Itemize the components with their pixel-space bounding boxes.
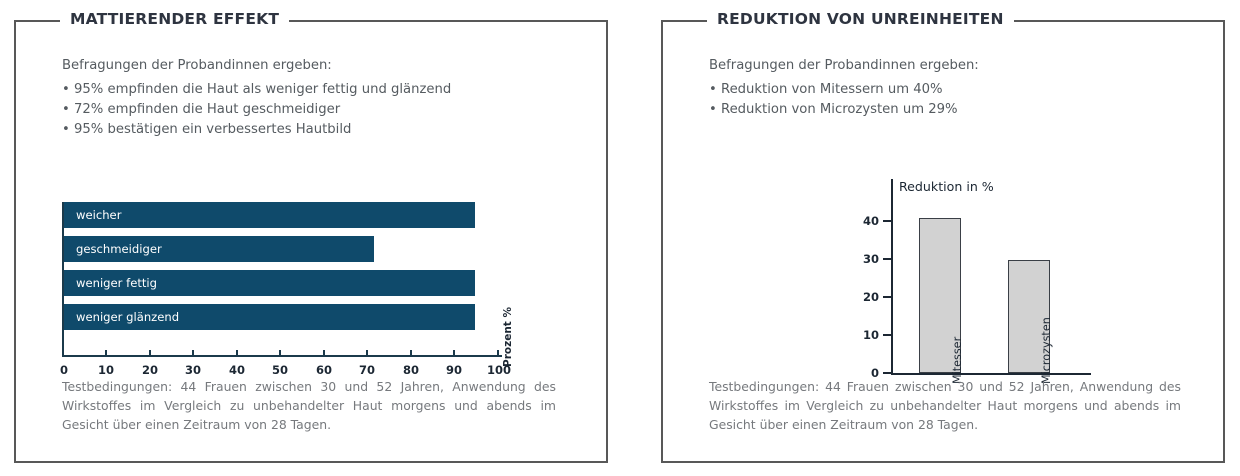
footnote-right: Testbedingungen: 44 Frauen zwischen 30 u… [709,377,1181,434]
bar-weniger-fettig: weniger fettig [64,270,475,296]
bar-row: weniger glänzend [64,304,502,330]
x-tick-label: 70 [359,363,375,377]
panel-title-right: REDUKTION VON UNREINHEITEN [707,10,1014,28]
list-item: Reduktion von Mitessern um 40% [709,80,1209,100]
vertical-column-chart: Reduktion in % 0 10 20 30 40 Mitesser Mi… [833,167,1113,382]
intro-lead-left: Befragungen der Probandinnen ergeben: [62,56,582,76]
bar-weicher: weicher [64,202,475,228]
column-label-microzysten: Microzysten [1040,317,1053,384]
chart-y-axis-line [891,179,893,375]
x-tick-label: 20 [142,363,158,377]
panel-mattierender-effekt: MATTIERENDER EFFEKT Befragungen der Prob… [14,20,608,463]
intro-block-right: Befragungen der Probandinnen ergeben: Re… [709,56,1209,120]
x-tick [149,350,151,357]
footnote-left: Testbedingungen: 44 Frauen zwischen 30 u… [62,377,556,434]
panel-reduktion-von-unreinheiten: REDUKTION VON UNREINHEITEN Befragungen d… [661,20,1225,463]
x-tick [453,350,455,357]
list-item: 95% bestätigen ein verbessertes Hautbild [62,120,582,140]
bar-row: geschmeidiger [64,236,502,262]
bar-label: weniger fettig [64,276,157,290]
x-tick [279,350,281,357]
x-tick [497,350,499,357]
x-tick-label: 50 [272,363,288,377]
x-tick-label: 40 [229,363,245,377]
x-tick-label: 0 [60,363,68,377]
intro-block-left: Befragungen der Probandinnen ergeben: 95… [62,56,582,140]
x-tick [323,350,325,357]
x-tick [366,350,368,357]
list-item: Reduktion von Microzysten um 29% [709,100,1209,120]
y-tick-label: 40 [853,214,879,228]
intro-lead-right: Befragungen der Probandinnen ergeben: [709,56,1209,76]
y-tick-label: 20 [853,290,879,304]
horizontal-bar-chart: weicher geschmeidiger weniger fettig wen… [62,202,562,377]
y-tick [883,296,892,298]
y-tick [883,334,892,336]
chart-title-reduktion: Reduktion in % [899,179,994,194]
x-tick-label: 90 [446,363,462,377]
x-tick-label: 10 [98,363,114,377]
x-tick [62,350,64,357]
bar-label: weicher [64,208,121,222]
y-tick [883,258,892,260]
y-tick [883,220,892,222]
x-tick [236,350,238,357]
bar-label: geschmeidiger [64,242,162,256]
chart-x-axis-line [62,355,502,357]
bullet-list-right: Reduktion von Mitessern um 40% Reduktion… [709,80,1209,120]
x-tick-label: 80 [403,363,419,377]
x-tick [410,350,412,357]
list-item: 95% empfinden die Haut als weniger fetti… [62,80,582,100]
bar-weniger-glaenzend: weniger glänzend [64,304,475,330]
bar-row: weniger fettig [64,270,502,296]
chart-axis-label-prozent: Prozent % [502,307,514,367]
y-tick-label: 30 [853,252,879,266]
bullet-list-left: 95% empfinden die Haut als weniger fetti… [62,80,582,140]
chart-x-axis-line [891,373,1091,375]
bar-label: weniger glänzend [64,310,179,324]
x-tick-label: 30 [185,363,201,377]
bar-geschmeidiger: geschmeidiger [64,236,374,262]
x-tick-label: 60 [316,363,332,377]
page-root: MATTIERENDER EFFEKT Befragungen der Prob… [0,0,1240,476]
y-tick [883,372,892,374]
chart-plot-area: weicher geschmeidiger weniger fettig wen… [64,202,502,337]
panel-title-left: MATTIERENDER EFFEKT [60,10,289,28]
bar-row: weicher [64,202,502,228]
x-tick [192,350,194,357]
list-item: 72% empfinden die Haut geschmeidiger [62,100,582,120]
y-tick-label: 10 [853,328,879,342]
x-tick [105,350,107,357]
